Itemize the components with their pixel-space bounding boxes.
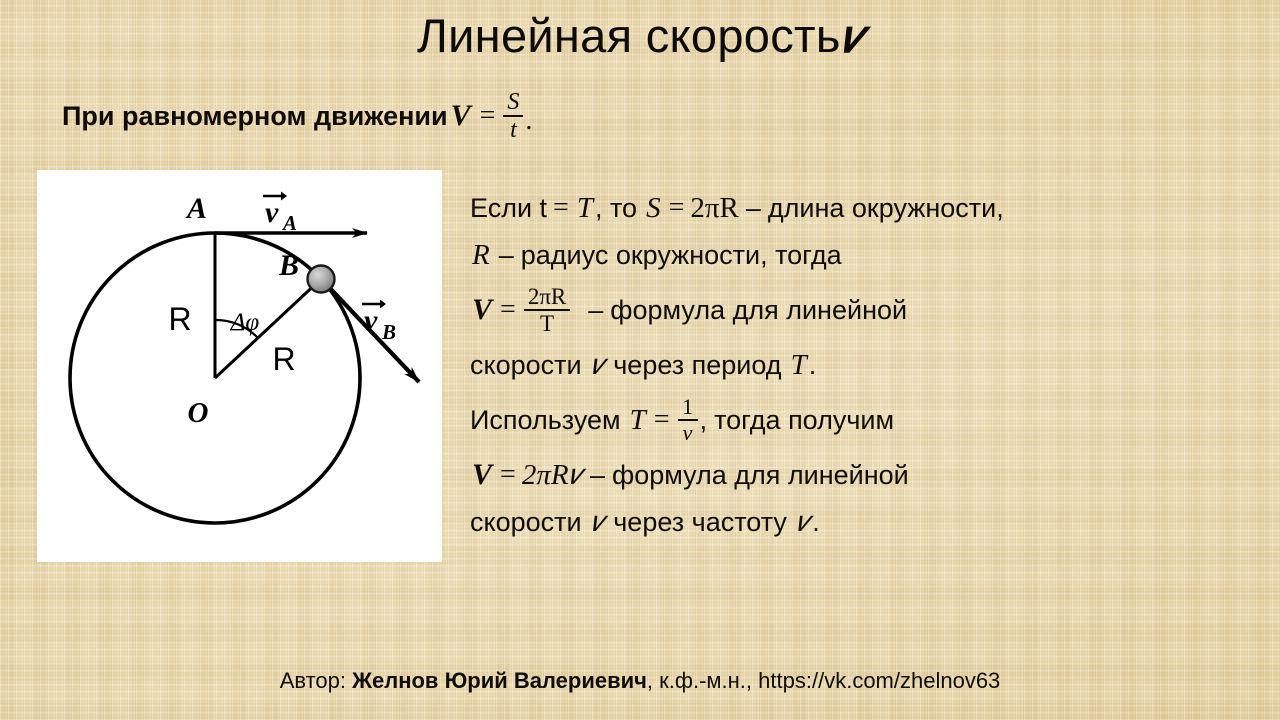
line2-dash: – xyxy=(492,240,521,271)
line7-speed-word: скорости xyxy=(470,507,582,538)
line6-symbol-v: V xyxy=(470,458,494,492)
line1-if-t: Если t xyxy=(470,193,547,224)
line4-symbol-t: T xyxy=(789,349,809,382)
moving-body-ball xyxy=(308,266,335,293)
label-center-o: O xyxy=(188,397,209,429)
page-title-text: Линейная скорость xyxy=(417,9,841,62)
page-title-symbol-v: 𝑣 xyxy=(841,11,863,63)
line1-symbol-s: S xyxy=(644,192,663,225)
subtitle-fraction-numerator: S xyxy=(503,90,523,114)
line3-fraction-2pir-over-t: 2πR T xyxy=(524,285,570,336)
subtitle-period: . xyxy=(525,101,532,143)
line3-fraction-denominator: T xyxy=(536,312,558,335)
line5-equals: = xyxy=(648,404,676,436)
label-angle-delta-phi: Δφ xyxy=(230,309,260,336)
text-line-5: Используем T = 1 ν , тогда получим xyxy=(470,390,1230,450)
svg-text:v: v xyxy=(265,196,279,229)
page-title: Линейная скорость𝑣 xyxy=(0,6,1280,67)
subtitle-variable-v: V xyxy=(448,96,474,136)
line1-tail-text: длина окружности, xyxy=(768,193,1004,224)
line3-fraction-numerator: 2πR xyxy=(524,285,570,308)
line6-equals: = xyxy=(494,459,522,491)
line1-expression-2pir: 2πR xyxy=(690,192,738,225)
line7-symbol-v: 𝑣 xyxy=(589,506,607,539)
line3-dash: – xyxy=(572,295,610,326)
line7-period: . xyxy=(812,507,820,538)
text-line-4: скорости 𝑣 через период T . xyxy=(470,343,1230,387)
subtitle-fraction-s-over-t: S t xyxy=(503,90,523,143)
circular-motion-diagram-panel: A B O R R Δφ v A v B xyxy=(37,170,442,562)
line5-fraction-1-over-nu: 1 ν xyxy=(678,396,698,445)
label-point-b: B xyxy=(278,249,299,282)
line3-tail-text: формула для линейной xyxy=(610,295,907,326)
line5-symbol-t: T xyxy=(628,404,648,437)
subtitle-fraction-denominator: t xyxy=(506,118,521,142)
footer-author-name: Желнов Юрий Валериевич xyxy=(352,668,647,693)
line6-dash: – xyxy=(583,460,612,491)
label-radius-right: R xyxy=(272,341,295,377)
line7-symbol-nu: 𝜈 xyxy=(794,506,812,539)
svg-text:A: A xyxy=(281,211,297,235)
label-point-a: A xyxy=(185,192,207,225)
label-radius-left: R xyxy=(168,301,191,337)
line3-equals: = xyxy=(494,294,522,326)
line1-equals-2: = xyxy=(663,192,691,224)
line5-tail-text: тогда получим xyxy=(714,405,894,436)
line5-comma: , xyxy=(700,405,708,436)
line4-speed-word: скорости xyxy=(470,350,582,381)
line4-period: . xyxy=(809,350,817,381)
line1-dash: – xyxy=(739,193,768,224)
line2-symbol-r: R xyxy=(470,239,492,272)
footer-author-credit: Автор: Желнов Юрий Валериевич, к.ф.-м.н.… xyxy=(0,668,1280,694)
subtitle-lead-text: При равномерном движении xyxy=(62,96,448,136)
subtitle-equals-sign: = xyxy=(474,96,502,136)
text-line-2: R – радиус окружности, тогда xyxy=(470,233,1230,277)
line6-tail-text: формула для линейной xyxy=(612,460,909,491)
line4-symbol-v: 𝑣 xyxy=(589,349,607,382)
svg-text:v: v xyxy=(364,304,378,337)
line1-period-symbol-t: T xyxy=(575,192,595,225)
line1-equals-1: = xyxy=(547,192,575,224)
text-line-1: Если t = T , то S = 2πR – длина окружнос… xyxy=(470,186,1230,230)
text-line-3: V = 2πR T – формула для линейной xyxy=(470,280,1230,340)
line3-symbol-v: V xyxy=(470,293,494,327)
text-line-6: V = 2πR𝜈 – формула для линейной xyxy=(470,453,1230,497)
line6-expression-2pirnu: 2πR𝜈 xyxy=(522,459,583,492)
line4-through-period: через период xyxy=(613,350,781,381)
circular-motion-diagram: A B O R R Δφ v A v B xyxy=(37,170,442,562)
line1-then: , то xyxy=(595,193,637,224)
line7-through-frequency: через частоту xyxy=(613,507,787,538)
slide: Линейная скорость𝑣 При равномерном движе… xyxy=(0,0,1280,720)
explanation-text-block: Если t = T , то S = 2πR – длина окружнос… xyxy=(470,186,1230,547)
subtitle-uniform-motion: При равномерном движении V = S t . xyxy=(62,90,532,143)
line5-fraction-denominator: ν xyxy=(679,422,697,444)
footer-link[interactable]: https://vk.com/zhelnov63 xyxy=(758,668,1000,693)
label-vector-va: v A xyxy=(263,192,297,236)
line5-fraction-numerator: 1 xyxy=(678,396,697,418)
footer-prefix: Автор: xyxy=(280,668,346,693)
line2-tail-text: радиус окружности, тогда xyxy=(521,240,842,271)
line5-use-word: Используем xyxy=(470,405,621,436)
footer-degree: , к.ф.-м.н., xyxy=(647,668,752,693)
text-line-7: скорости 𝑣 через частоту 𝜈 . xyxy=(470,500,1230,544)
svg-text:B: B xyxy=(381,320,396,344)
